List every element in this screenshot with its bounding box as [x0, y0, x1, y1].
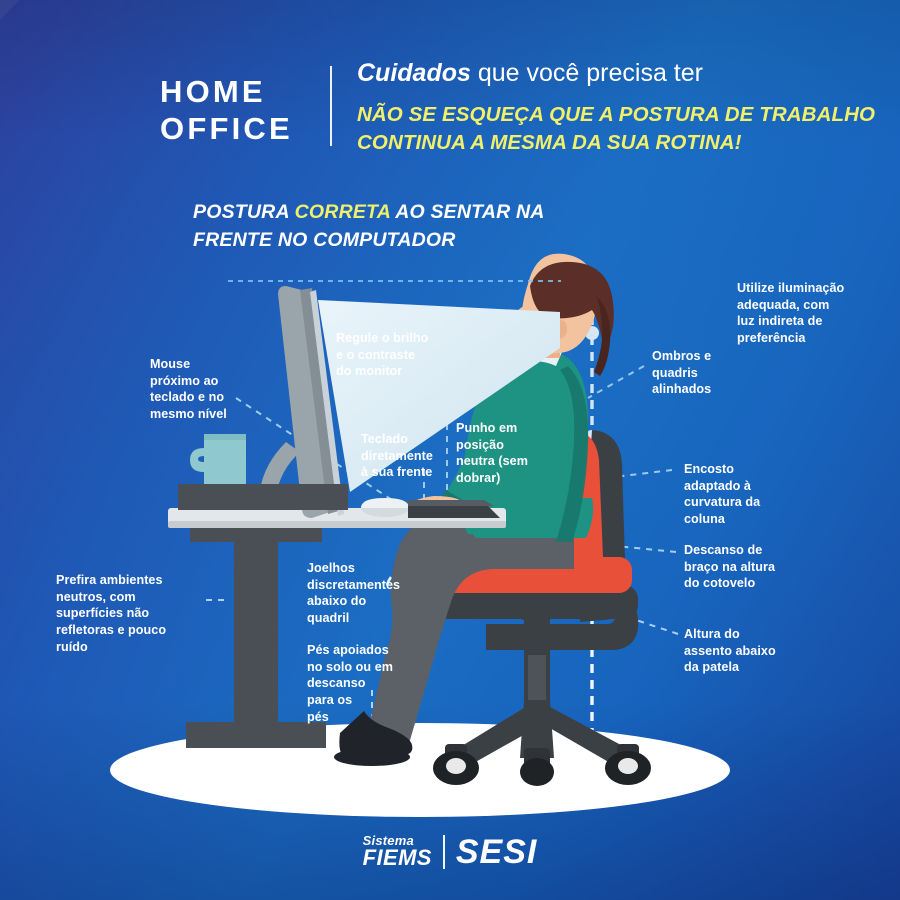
header-shout: NÃO SE ESQUEÇA QUE A POSTURA DE TRABALHO… — [357, 101, 887, 156]
logo-divider — [443, 835, 445, 869]
section-title-line-1: POSTURA CORRETA AO SENTAR NA — [193, 198, 613, 226]
brand-line-2: OFFICE — [160, 111, 320, 148]
shout-line-1: NÃO SE ESQUEÇA QUE A POSTURA DE TRABALHO — [357, 101, 887, 129]
brand-line-1: HOME — [160, 74, 320, 111]
brand-home-office: HOME OFFICE — [160, 74, 320, 147]
callout-backrest: Encostoadaptado àcurvatura dacoluna — [684, 461, 808, 528]
logo-fiems-text: FIEMS — [363, 848, 432, 869]
callout-monitor: Regule o brilhoe o contrastedo monitor — [336, 330, 486, 380]
section-title: POSTURA CORRETA AO SENTAR NA FRENTE NO C… — [193, 198, 613, 255]
header-kicker: Cuidados que você precisa ter — [357, 60, 877, 88]
callout-armrest: Descanso debraço na alturado cotovelo — [684, 542, 820, 592]
footer-logo: Sistema FIEMS SESI — [0, 824, 900, 880]
callout-environment: Prefira ambientesneutros, comsuperfícies… — [56, 572, 202, 656]
header-divider — [330, 66, 332, 146]
callout-lighting: Utilize iluminaçãoadequada, comluz indir… — [737, 280, 887, 347]
shout-line-2: CONTINUA A MESMA DA SUA ROTINA! — [357, 129, 887, 157]
text-layer: HOME OFFICE Cuidados que você precisa te… — [0, 0, 900, 900]
kicker-strong: Cuidados — [357, 59, 471, 87]
callout-mouse: Mousepróximo aoteclado e nomesmo nível — [150, 356, 270, 423]
callout-feet: Pés apoiadosno solo ou emdescansopara os… — [307, 642, 427, 726]
callout-keyboard: Tecladodiretamenteà sua frente — [361, 431, 471, 481]
section-title-part2: AO SENTAR NA — [390, 201, 544, 223]
section-divider — [228, 280, 561, 282]
logo-fiems: Sistema FIEMS — [363, 835, 432, 868]
callout-seat-height: Altura doassento abaixoda patela — [684, 626, 820, 676]
infographic-poster: HOME OFFICE Cuidados que você precisa te… — [0, 0, 900, 900]
callout-knees: Joelhosdiscretamentesabaixo doquadril — [307, 560, 443, 627]
section-title-part1: POSTURA — [193, 201, 295, 223]
callout-shoulders: Ombros equadrisalinhados — [652, 348, 762, 398]
logo-sesi-text: SESI — [456, 833, 537, 872]
kicker-rest: que você precisa ter — [471, 59, 703, 87]
section-title-highlight: CORRETA — [295, 201, 391, 223]
callout-wrist: Punho emposiçãoneutra (semdobrar) — [456, 420, 568, 487]
section-title-line-2: FRENTE NO COMPUTADOR — [193, 226, 613, 254]
